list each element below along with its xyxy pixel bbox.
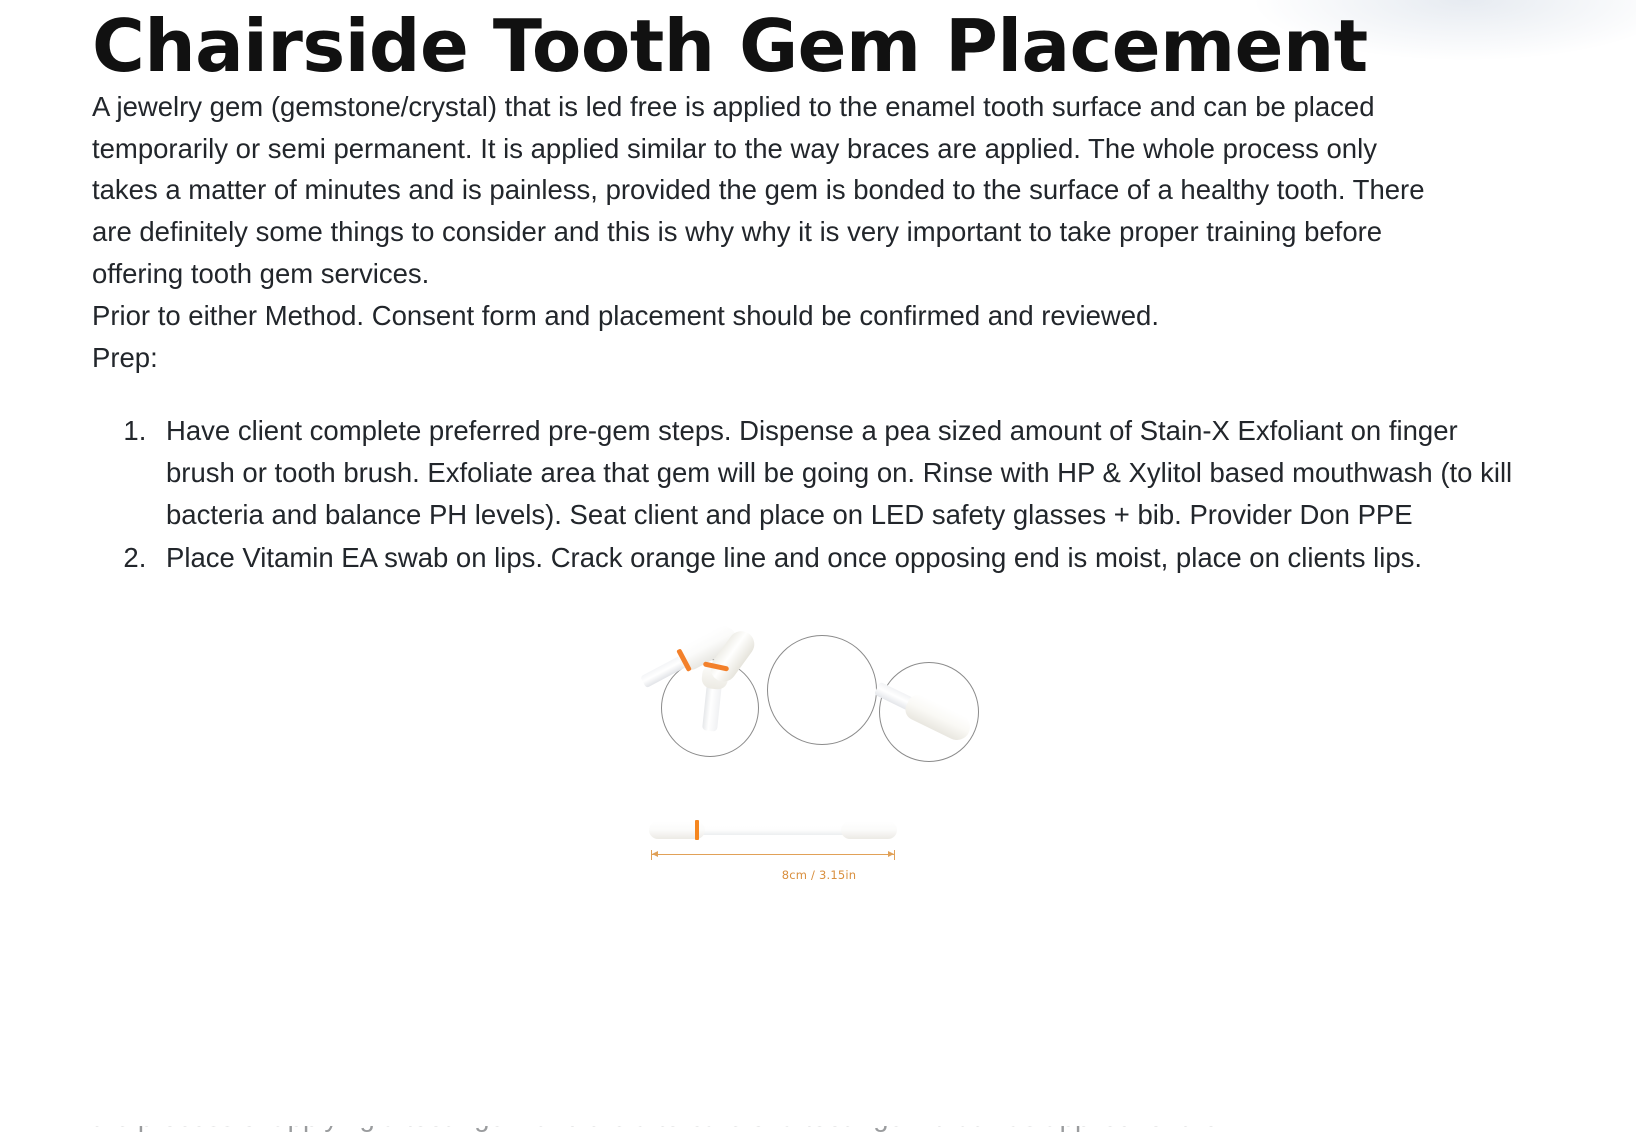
consent-paragraph: Prior to either Method. Consent form and… bbox=[92, 295, 1450, 337]
full-length-swab-illustration bbox=[649, 820, 897, 840]
arrow-left-icon bbox=[652, 851, 658, 857]
list-item: Have client complete preferred pre-gem s… bbox=[154, 410, 1514, 535]
bent-swab-illustration bbox=[685, 627, 755, 727]
swab-snap-point-closeup bbox=[767, 635, 877, 745]
dimension-rule bbox=[651, 850, 895, 860]
page-title: Chairside Tooth Gem Placement bbox=[92, 0, 1546, 86]
clipped-bottom-text-value: the process of applying a tooth gem and … bbox=[92, 1126, 1452, 1138]
document-page: Chairside Tooth Gem Placement A jewelry … bbox=[0, 0, 1636, 882]
intro-paragraph: A jewelry gem (gemstone/crystal) that is… bbox=[92, 86, 1450, 295]
orange-snap-band-icon bbox=[695, 820, 699, 840]
list-item: Place Vitamin EA swab on lips. Crack ora… bbox=[154, 537, 1514, 579]
prep-steps-list: Have client complete preferred pre-gem s… bbox=[92, 410, 1514, 578]
clipped-bottom-text: the process of applying a tooth gem and … bbox=[92, 1126, 1452, 1138]
arrow-right-icon bbox=[888, 851, 894, 857]
dimension-label: 8cm / 3.15in bbox=[639, 868, 999, 882]
prep-heading: Prep: bbox=[92, 337, 1450, 379]
swab-product-figure: 8cm / 3.15in bbox=[639, 617, 999, 882]
